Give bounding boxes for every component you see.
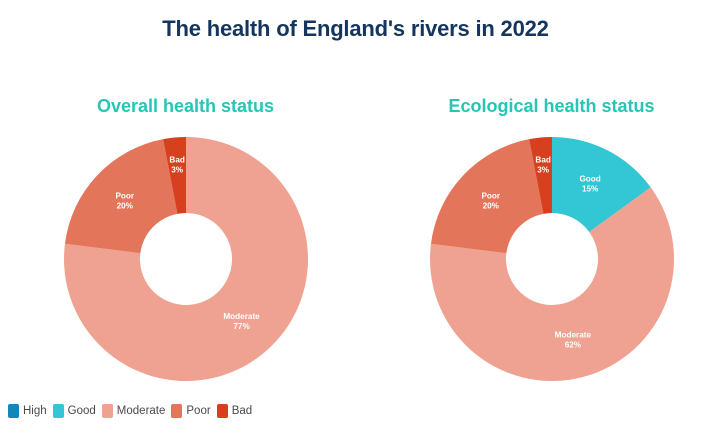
slice-label-name: Poor (115, 192, 134, 201)
donut-chart-overall: Moderate77%Poor20%Bad3% (61, 134, 311, 384)
slice-label-value: 3% (171, 166, 184, 175)
slice-label-value: 20% (116, 202, 133, 211)
legend-label-bad: Bad (232, 405, 252, 417)
panel-ecological-health: Ecological health status Good15%Moderate… (392, 96, 711, 396)
legend-label-poor: Poor (186, 405, 210, 417)
chart-figure: The health of England's rivers in 2022 O… (0, 0, 711, 446)
slice-label-name: Moderate (554, 331, 591, 340)
legend-swatch-poor (171, 404, 182, 418)
legend-swatch-high (8, 404, 19, 418)
slice-label-poor: Poor20% (481, 192, 500, 211)
slice-label-name: Moderate (223, 312, 260, 321)
donut-svg-ecological: Good15%Moderate62%Poor20%Bad3% (427, 134, 677, 384)
chart-legend: HighGoodModeratePoorBad (8, 404, 252, 418)
legend-label-moderate: Moderate (117, 405, 166, 417)
legend-item-poor[interactable]: Poor (171, 404, 210, 418)
page-title: The health of England's rivers in 2022 (0, 16, 711, 42)
donut-chart-ecological: Good15%Moderate62%Poor20%Bad3% (427, 134, 677, 384)
panel-title-ecological: Ecological health status (392, 96, 711, 117)
slice-label-bad: Bad3% (169, 156, 184, 175)
legend-swatch-moderate (102, 404, 113, 418)
legend-item-good[interactable]: Good (53, 404, 96, 418)
legend-item-moderate[interactable]: Moderate (102, 404, 166, 418)
legend-label-good: Good (68, 405, 96, 417)
slice-label-name: Bad (535, 156, 550, 165)
slice-label-name: Good (579, 174, 600, 183)
slice-label-bad: Bad3% (535, 156, 550, 175)
slice-label-poor: Poor20% (115, 192, 134, 211)
slice-label-value: 20% (482, 202, 499, 211)
slice-label-value: 62% (564, 341, 581, 350)
slice-label-value: 77% (233, 322, 250, 331)
panel-overall-health: Overall health status Moderate77%Poor20%… (8, 96, 363, 396)
slice-label-name: Poor (481, 192, 500, 201)
legend-swatch-good (53, 404, 64, 418)
slice-label-name: Bad (169, 156, 184, 165)
legend-label-high: High (23, 405, 47, 417)
slice-label-value: 15% (581, 184, 598, 193)
legend-swatch-bad (217, 404, 228, 418)
legend-item-high[interactable]: High (8, 404, 47, 418)
legend-item-bad[interactable]: Bad (217, 404, 252, 418)
slice-label-good: Good15% (579, 174, 600, 193)
slice-label-value: 3% (537, 166, 550, 175)
donut-svg-overall: Moderate77%Poor20%Bad3% (61, 134, 311, 384)
panel-title-overall: Overall health status (8, 96, 363, 117)
